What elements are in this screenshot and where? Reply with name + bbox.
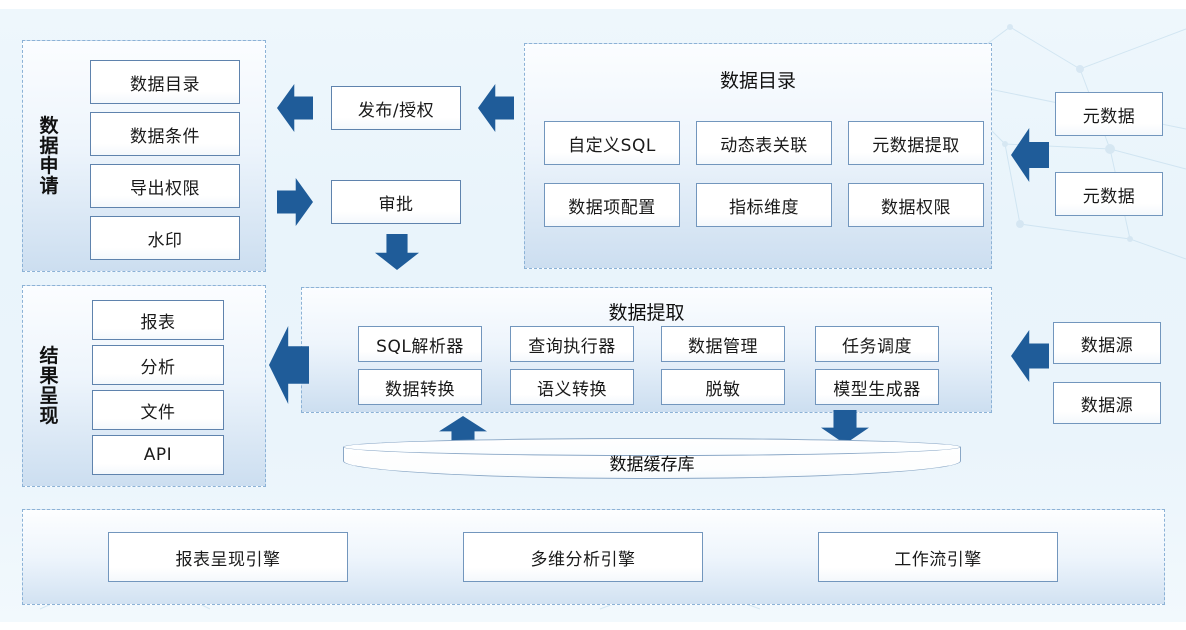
panel-label-text: 数据申请 xyxy=(40,116,59,197)
panel-label-data-application: 数据申请 xyxy=(30,58,68,254)
box-publish-authorize[interactable]: 发布/授权 xyxy=(331,86,461,130)
box-label: 脱敏 xyxy=(706,375,741,400)
box-label: SQL解析器 xyxy=(376,332,464,357)
box-data-catalog-apply[interactable]: 数据目录 xyxy=(90,60,240,104)
box-label: 水印 xyxy=(148,226,183,251)
box-custom-sql[interactable]: 自定义SQL xyxy=(544,121,680,165)
box-semantic-transform[interactable]: 语义转换 xyxy=(510,369,634,405)
box-datasource-2[interactable]: 数据源 xyxy=(1053,382,1161,424)
box-metadata-2[interactable]: 元数据 xyxy=(1055,172,1163,216)
box-model-generator[interactable]: 模型生成器 xyxy=(815,369,939,405)
box-label: 报表呈现引擎 xyxy=(176,545,281,570)
cylinder-label-text: 数据缓存库 xyxy=(610,450,695,475)
box-label: 数据源 xyxy=(1081,391,1134,416)
box-approval[interactable]: 审批 xyxy=(331,180,461,224)
box-analysis[interactable]: 分析 xyxy=(92,345,224,385)
box-label: 模型生成器 xyxy=(833,375,921,400)
box-sql-parser[interactable]: SQL解析器 xyxy=(358,326,482,362)
panel-label-text: 结果呈现 xyxy=(40,346,59,427)
box-label: 数据目录 xyxy=(130,70,200,95)
box-label: API xyxy=(144,445,172,465)
box-data-transform[interactable]: 数据转换 xyxy=(358,369,482,405)
box-label: 语义转换 xyxy=(537,375,607,400)
box-olap-engine[interactable]: 多维分析引擎 xyxy=(463,532,703,582)
box-data-permission[interactable]: 数据权限 xyxy=(848,183,984,227)
box-label: 数据条件 xyxy=(130,122,200,147)
box-query-executor[interactable]: 查询执行器 xyxy=(510,326,634,362)
box-dynamic-table-relation[interactable]: 动态表关联 xyxy=(696,121,832,165)
box-label: 工作流引擎 xyxy=(894,545,982,570)
panel-title-data-catalog: 数据目录 xyxy=(524,66,992,93)
cylinder-label: 数据缓存库 xyxy=(343,446,961,478)
box-export-permission[interactable]: 导出权限 xyxy=(90,164,240,208)
box-metric-dimension[interactable]: 指标维度 xyxy=(696,183,832,227)
box-metadata-1[interactable]: 元数据 xyxy=(1055,92,1163,136)
box-label: 报表 xyxy=(141,308,176,333)
box-label: 元数据提取 xyxy=(872,131,960,156)
box-datasource-1[interactable]: 数据源 xyxy=(1053,322,1161,364)
box-label: 指标维度 xyxy=(729,193,799,218)
box-data-item-config[interactable]: 数据项配置 xyxy=(544,183,680,227)
box-label: 审批 xyxy=(379,190,414,215)
box-label: 元数据 xyxy=(1083,102,1136,127)
box-workflow-engine[interactable]: 工作流引擎 xyxy=(818,532,1058,582)
box-label: 数据权限 xyxy=(881,193,951,218)
panel-title-text: 数据提取 xyxy=(608,302,684,324)
box-label: 分析 xyxy=(141,353,176,378)
box-data-management[interactable]: 数据管理 xyxy=(661,326,785,362)
box-label: 查询执行器 xyxy=(528,332,616,357)
box-label: 动态表关联 xyxy=(720,131,808,156)
box-report-engine[interactable]: 报表呈现引擎 xyxy=(108,532,348,582)
box-desensitization[interactable]: 脱敏 xyxy=(661,369,785,405)
box-label: 元数据 xyxy=(1083,182,1136,207)
data-cache-repository[interactable]: 数据缓存库 xyxy=(343,438,961,482)
box-label: 自定义SQL xyxy=(568,131,656,156)
box-report[interactable]: 报表 xyxy=(92,300,224,340)
box-watermark[interactable]: 水印 xyxy=(90,216,240,260)
box-data-condition[interactable]: 数据条件 xyxy=(90,112,240,156)
box-api[interactable]: API xyxy=(92,435,224,475)
box-label: 发布/授权 xyxy=(358,96,434,121)
box-metadata-extraction[interactable]: 元数据提取 xyxy=(848,121,984,165)
panel-title-text: 数据目录 xyxy=(720,70,796,92)
box-label: 任务调度 xyxy=(842,332,912,357)
box-label: 数据源 xyxy=(1081,331,1134,356)
box-file[interactable]: 文件 xyxy=(92,390,224,430)
box-label: 数据转换 xyxy=(385,375,455,400)
architecture-diagram: 数据申请 数据目录 数据条件 导出权限 水印 结果呈现 报表 分析 文件 API… xyxy=(0,0,1186,630)
box-label: 数据项配置 xyxy=(568,193,656,218)
box-label: 数据管理 xyxy=(688,332,758,357)
panel-label-result-presentation: 结果呈现 xyxy=(30,300,68,472)
box-label: 文件 xyxy=(141,398,176,423)
panel-title-data-extraction: 数据提取 xyxy=(301,298,992,325)
box-label: 多维分析引擎 xyxy=(531,545,636,570)
box-label: 导出权限 xyxy=(130,174,200,199)
box-task-scheduling[interactable]: 任务调度 xyxy=(815,326,939,362)
